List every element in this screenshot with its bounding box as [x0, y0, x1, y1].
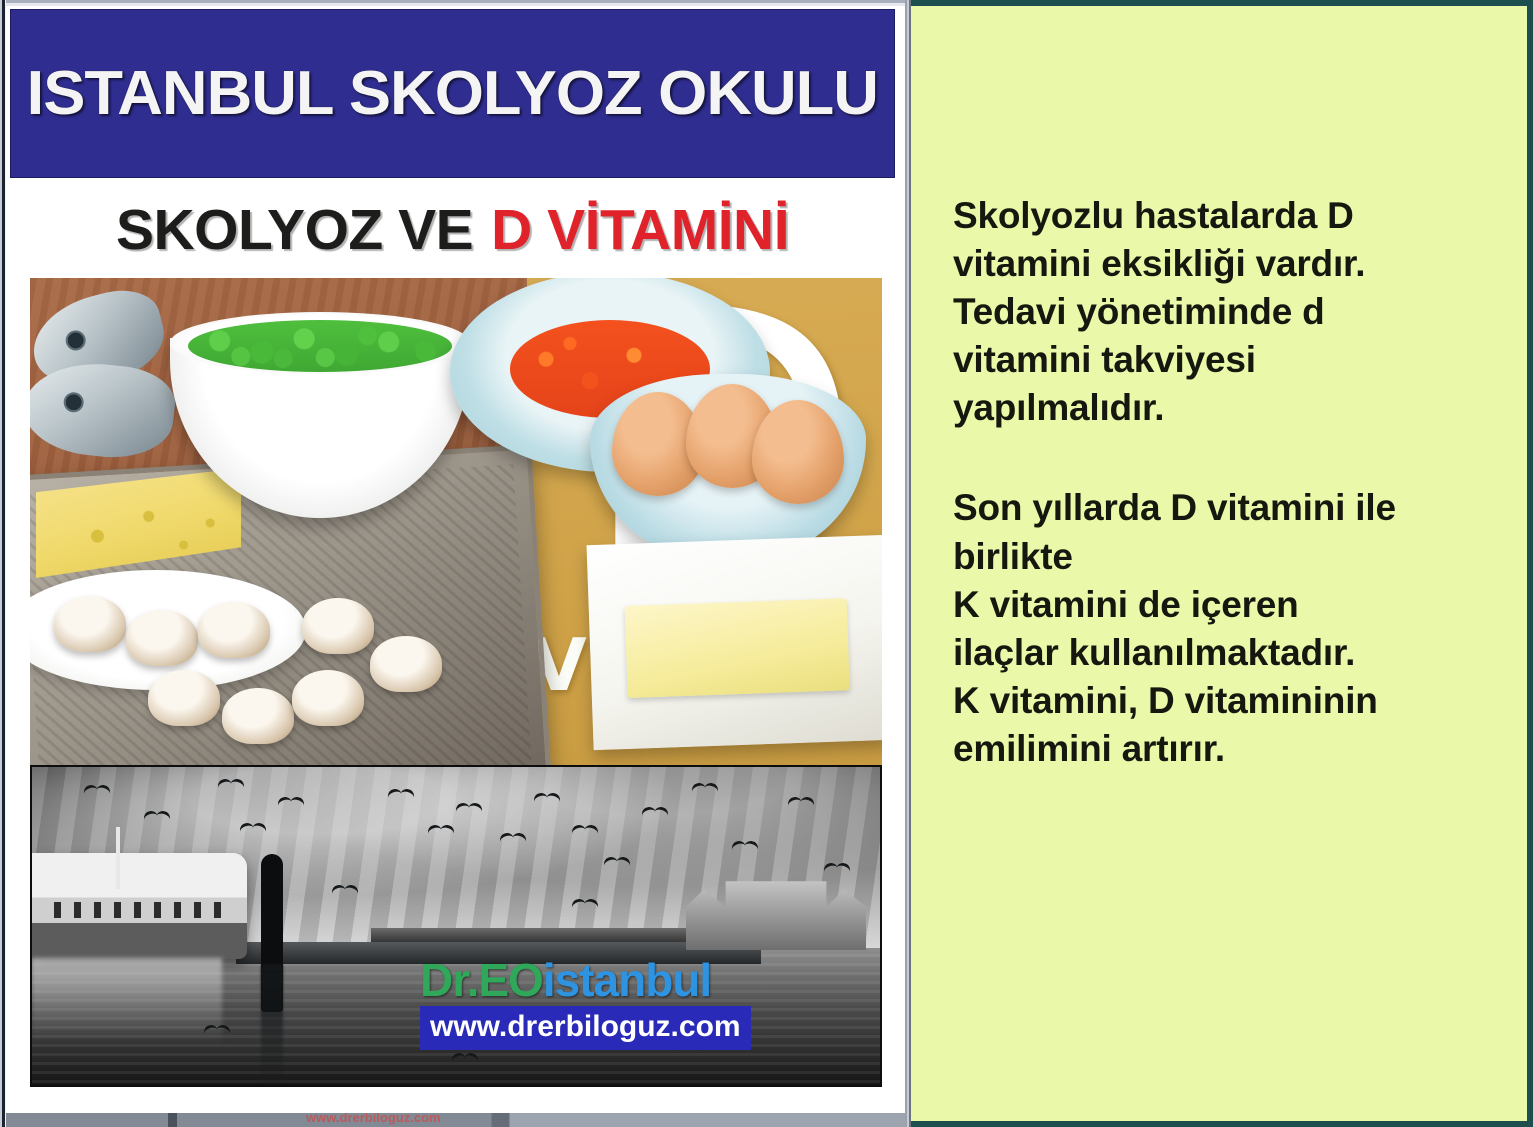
watermark-logo: Dr.EOistanbul: [420, 957, 792, 1004]
seagull-icon: [572, 899, 598, 910]
cropped-bottom-strip: www.drerbiloguz.com: [6, 1113, 905, 1127]
seagull-icon: [456, 803, 482, 814]
watermark-url-bar: www.drerbiloguz.com: [420, 1006, 751, 1050]
notes-line: birlikte: [953, 533, 1491, 581]
seagull-icon: [824, 863, 850, 874]
watermark: Dr.EOistanbul www.drerbiloguz.com: [420, 957, 792, 1050]
notes-line: ilaçlar kullanılmaktadır.: [953, 629, 1491, 677]
seagull-icon: [642, 807, 668, 818]
person-reflection: [261, 964, 283, 1084]
slide-left-border: [0, 0, 6, 1127]
eggs-bowl: [590, 374, 866, 560]
notes-line: Son yıllarda D vitamini ile: [953, 484, 1491, 532]
slide-header-title: ISTANBUL SKOLYOZ OKULU: [27, 58, 878, 129]
notes-paragraph-2: Son yıllarda D vitamini ile birlikte K v…: [953, 484, 1491, 773]
notes-line: emilimini artırır.: [953, 725, 1491, 773]
ferry-boat: [32, 853, 247, 959]
cropped-bottom-strip-text: www.drerbiloguz.com: [306, 1113, 441, 1125]
seagull-icon: [240, 823, 266, 834]
ferry-reflection: [32, 958, 222, 1044]
seagull-icon: [604, 857, 630, 868]
slide-header-banner: ISTANBUL SKOLYOZ OKULU: [10, 9, 895, 178]
vitamin-d-food-photo: D VİTAMİNİ: [30, 278, 882, 765]
presentation-view: ISTANBUL SKOLYOZ OKULU SKOLYOZ VE D VİTA…: [0, 0, 1533, 1127]
mushroom-icon: [370, 636, 442, 692]
subtitle-text-black: SKOLYOZ VE: [116, 197, 473, 263]
watermark-url: www.drerbiloguz.com: [430, 1010, 741, 1043]
seagull-icon: [204, 1025, 230, 1036]
mushroom-icon: [302, 598, 374, 654]
notes-line: vitamini eksikliği vardır.: [953, 240, 1491, 288]
slide-image: ISTANBUL SKOLYOZ OKULU SKOLYOZ VE D VİTA…: [0, 0, 905, 1127]
mushroom-icon: [222, 688, 294, 744]
seagull-icon: [692, 783, 718, 794]
fish-eye-icon: [63, 392, 85, 414]
seagull-icon: [534, 793, 560, 804]
slide-top-border: [6, 0, 905, 6]
mushroom-icon: [54, 596, 126, 652]
slide-subtitle: SKOLYOZ VE D VİTAMİNİ: [10, 186, 895, 274]
notes-pane: Skolyozlu hastalarda D vitamini eksikliğ…: [911, 0, 1533, 1127]
notes-paragraph-1: Skolyozlu hastalarda D vitamini eksikliğ…: [953, 192, 1491, 432]
green-peas-bowl: [170, 286, 470, 521]
subtitle-text-red: D VİTAMİNİ: [491, 197, 789, 263]
seagull-icon: [788, 797, 814, 808]
paragraph-spacer: [953, 432, 1491, 484]
seagull-icon: [84, 785, 110, 796]
seagull-icon: [452, 1053, 478, 1064]
seagull-icon: [428, 825, 454, 836]
seagull-icon: [732, 841, 758, 852]
seagull-icon: [388, 789, 414, 800]
watermark-logo-part2: istanbul: [543, 954, 711, 1006]
seagull-icon: [218, 779, 244, 790]
mushroom-icon: [126, 610, 198, 666]
mushroom-icon: [148, 670, 220, 726]
notes-line: vitamini takviyesi: [953, 336, 1491, 384]
seagull-icon: [572, 825, 598, 836]
watermark-logo-part1: Dr.EO: [420, 954, 543, 1006]
ferry-mast: [116, 827, 120, 889]
notes-line: yapılmalıdır.: [953, 384, 1491, 432]
seagull-icon: [500, 833, 526, 844]
seagull-icon: [332, 885, 358, 896]
green-peas: [188, 320, 452, 372]
mushroom-icon: [292, 670, 364, 726]
seagull-icon: [278, 797, 304, 808]
seagull-icon: [144, 811, 170, 822]
notes-line: K vitamini, D vitamininin: [953, 677, 1491, 725]
notes-line: K vitamini de içeren: [953, 581, 1491, 629]
fish-eye-icon: [64, 328, 88, 352]
mushroom-icon: [198, 602, 270, 658]
istanbul-waterfront-photo: Dr.EOistanbul www.drerbiloguz.com: [30, 765, 882, 1087]
notes-line: Tedavi yönetiminde d: [953, 288, 1491, 336]
notes-line: Skolyozlu hastalarda D: [953, 192, 1491, 240]
butter-block: [587, 535, 882, 750]
